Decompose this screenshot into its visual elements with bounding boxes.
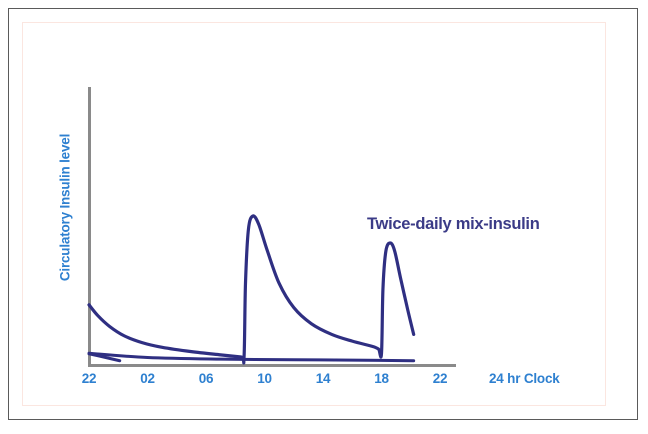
x-tick-label-0: 22: [74, 371, 104, 386]
x-tick-label-1: 02: [133, 371, 163, 386]
chart-plot-area: Circulatory Insulin level Twice-daily mi…: [0, 0, 648, 434]
x-axis-title: 24 hr Clock: [489, 371, 560, 386]
x-tick-label-4: 14: [308, 371, 338, 386]
x-tick-label-3: 10: [250, 371, 280, 386]
series-line-baseline: [89, 353, 414, 361]
x-tick-label-5: 18: [367, 371, 397, 386]
x-tick-label-2: 06: [191, 371, 221, 386]
x-tick-label-6: 22: [425, 371, 455, 386]
y-axis-title: Circulatory Insulin level: [58, 108, 73, 308]
chart-series-title: Twice-daily mix-insulin: [367, 215, 540, 234]
series-line-mix-insulin: [89, 216, 414, 363]
insulin-profile-chart: [0, 0, 648, 434]
